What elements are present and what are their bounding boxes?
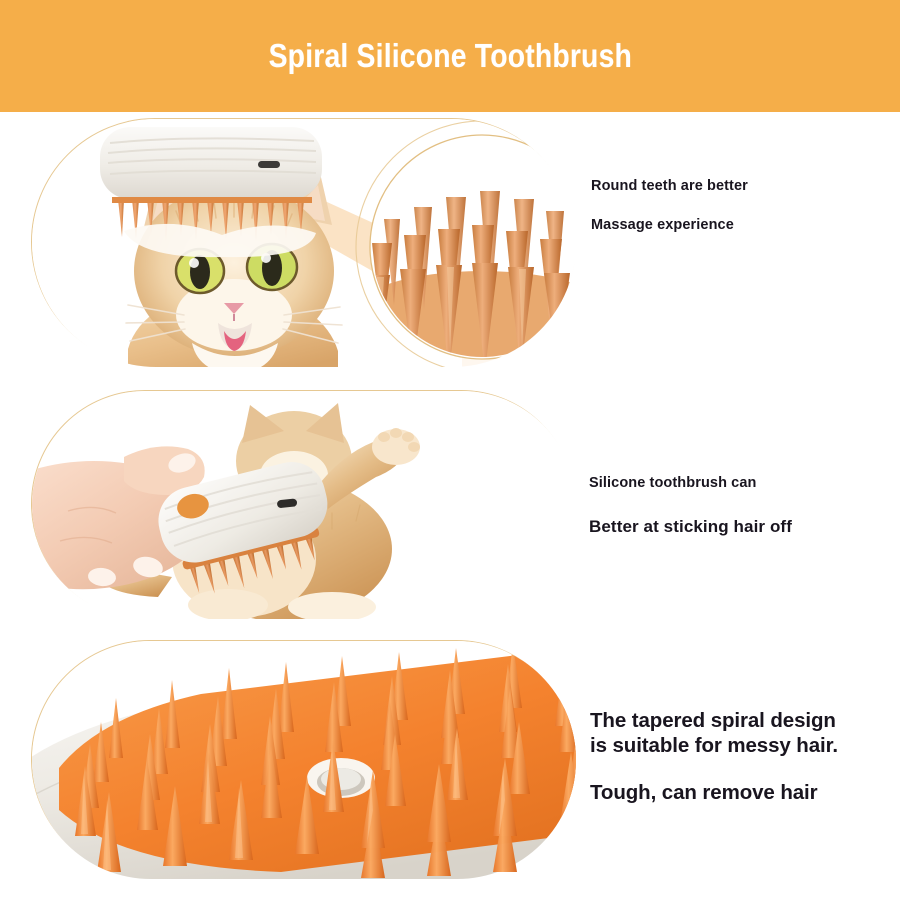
feature-row-2: Silicone toothbrush can Better at sticki… — [0, 390, 900, 625]
feature-line: Better at sticking hair off — [589, 517, 792, 537]
feature-line: is suitable for messy hair. — [590, 733, 838, 758]
feature-line: Massage experience — [591, 217, 748, 233]
page-title: Spiral Silicone Toothbrush — [268, 37, 631, 75]
product-infographic-page: Spiral Silicone Toothbrush — [0, 0, 900, 900]
image-frame-2 — [31, 390, 575, 618]
feature-line: Silicone toothbrush can — [589, 475, 792, 491]
illustration-hand-brushing-cat — [32, 391, 574, 617]
center-button-recess — [307, 758, 375, 798]
page-header-banner: Spiral Silicone Toothbrush — [0, 0, 900, 112]
feature-line: The tapered spiral design — [590, 708, 838, 733]
illustration-brush-head-closeup — [32, 641, 574, 877]
illustration-cat-with-brush — [32, 119, 574, 365]
image-frame-1 — [31, 118, 575, 366]
feature-copy-3: The tapered spiral design is suitable fo… — [590, 708, 838, 805]
feature-line: Round teeth are better — [591, 178, 748, 194]
feature-copy-2: Silicone toothbrush can Better at sticki… — [589, 475, 792, 537]
feature-line: Tough, can remove hair — [590, 780, 838, 805]
brush-device-top — [100, 127, 322, 257]
image-frame-3 — [31, 640, 575, 878]
feature-row-1: Round teeth are better Massage experienc… — [0, 118, 900, 378]
feature-copy-1: Round teeth are better Massage experienc… — [591, 178, 748, 233]
usb-port-icon — [258, 161, 280, 168]
feature-row-3: The tapered spiral design is suitable fo… — [0, 640, 900, 885]
